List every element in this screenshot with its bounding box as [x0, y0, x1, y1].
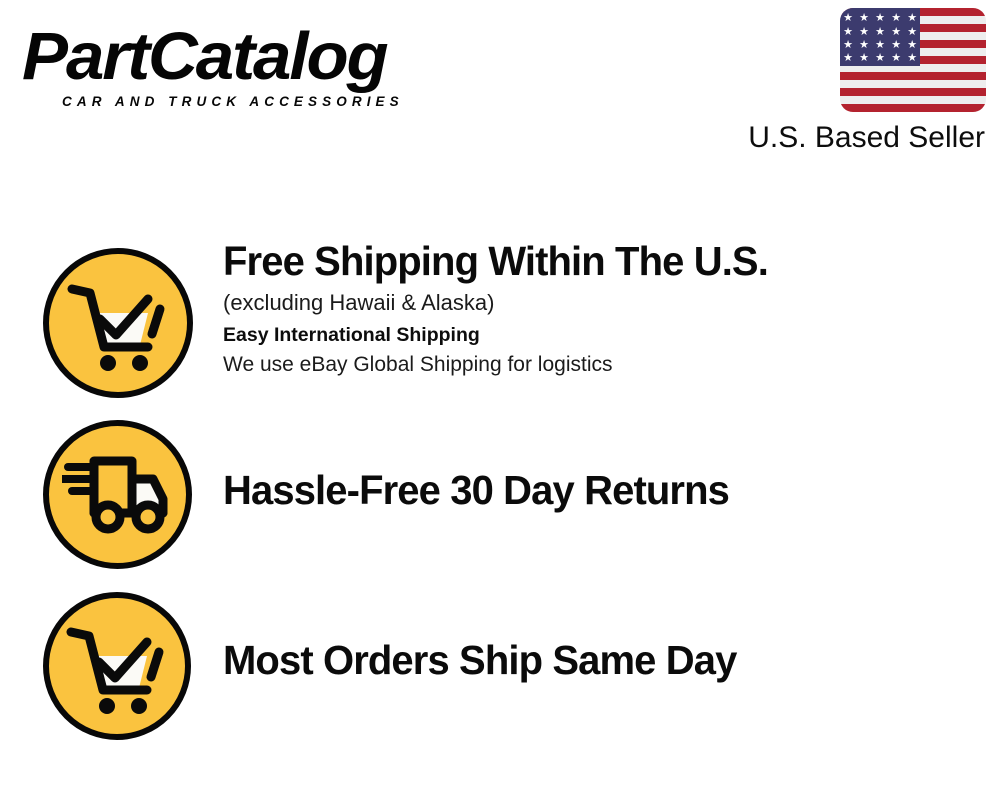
partcatalog-logo[interactable]: PartCatalog CAR AND TRUCK ACCESSORIES [22, 22, 492, 117]
cart-check-icon [43, 248, 193, 398]
delivery-truck-icon [43, 420, 192, 569]
brand-tagline: CAR AND TRUCK ACCESSORIES [62, 94, 492, 109]
feature-text-block: Hassle-Free 30 Day Returns [223, 464, 990, 516]
feature-title: Most Orders Ship Same Day [223, 634, 971, 686]
us-flag-icon: ★★★★★ ★★★★★ ★★★★★ ★★★★★ [840, 8, 986, 112]
flag-star-row: ★★★★★ [840, 27, 920, 38]
flag-stripe [840, 104, 986, 112]
feature-sub-text: We use eBay Global Shipping for logistic… [223, 350, 990, 379]
feature-title: Hassle-Free 30 Day Returns [223, 464, 971, 516]
us-based-seller-badge: ★★★★★ ★★★★★ ★★★★★ ★★★★★ U.S. Based Selle… [711, 8, 986, 155]
feature-sub-heading: Easy International Shipping [223, 320, 990, 350]
flag-stripe [840, 72, 986, 80]
feature-row: Most Orders Ship Same Day [0, 586, 1000, 746]
flag-star-row: ★★★★★ [840, 53, 920, 64]
cart-check-icon [43, 592, 191, 740]
seller-label: U.S. Based Seller [711, 121, 985, 155]
brand-wordmark: PartCatalog [22, 22, 506, 92]
flag-star-row: ★★★★★ [840, 13, 920, 24]
feature-text-block: Most Orders Ship Same Day [223, 634, 990, 686]
feature-subtitle: (excluding Hawaii & Alaska) [223, 287, 990, 318]
flag-stripe [840, 88, 986, 96]
feature-row: Free Shipping Within The U.S. (excluding… [0, 240, 1000, 408]
feature-text-block: Free Shipping Within The U.S. (excluding… [223, 235, 990, 379]
feature-title: Free Shipping Within The U.S. [223, 235, 971, 287]
feature-row: Hassle-Free 30 Day Returns [0, 414, 1000, 574]
flag-star-row: ★★★★★ [840, 40, 920, 51]
